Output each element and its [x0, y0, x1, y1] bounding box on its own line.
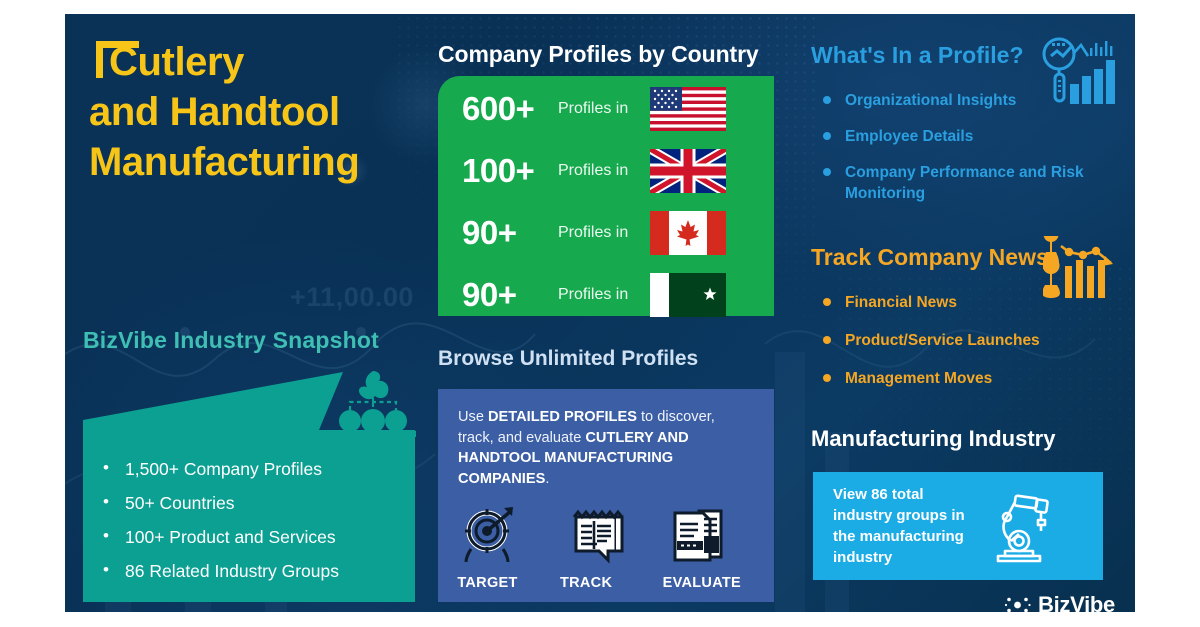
profile-label: Profiles in: [558, 100, 650, 118]
flag-canada-icon: [650, 211, 726, 255]
browse-suffix: .: [545, 471, 549, 487]
browse-icon-row: TARGET TRACK: [438, 489, 774, 591]
list-item: 1,500+ Company Profiles: [99, 452, 415, 486]
list-item: 100+ Product and Services: [99, 520, 415, 554]
news-feature-list: Financial News Product/Service Launches …: [813, 292, 1113, 406]
title-line-3: Manufacturing: [89, 137, 359, 187]
news-track-icon: [560, 499, 652, 565]
country-profiles-heading: Company Profiles by Country: [438, 41, 759, 68]
browse-panel: Use DETAILED PROFILES to discover, track…: [438, 389, 774, 602]
flag-pakistan-icon: [650, 273, 726, 317]
target-icon: [457, 499, 549, 565]
browse-item-evaluate[interactable]: EVALUATE: [663, 499, 755, 591]
browse-item-target[interactable]: TARGET: [457, 499, 549, 591]
list-item: Financial News: [813, 292, 1113, 313]
manufacturing-heading: Manufacturing Industry: [811, 426, 1055, 452]
globe-network-icon: [330, 369, 416, 437]
list-item: 50+ Countries: [99, 486, 415, 520]
profile-label: Profiles in: [558, 224, 650, 242]
snapshot-pointer-shape: [83, 372, 343, 438]
snapshot-list: 1,500+ Company Profiles 50+ Countries 10…: [83, 430, 415, 588]
page-title: Cutlery and Handtool Manufacturing: [89, 37, 359, 187]
profile-count: 600+: [462, 90, 558, 128]
browse-bold-1: DETAILED PROFILES: [488, 409, 637, 425]
profile-section-heading: What's In a Profile?: [811, 42, 1024, 69]
browse-prefix: Use: [458, 409, 488, 425]
profile-count: 90+: [462, 276, 558, 314]
profile-count: 90+: [462, 214, 558, 252]
corner-bracket-icon: [96, 41, 139, 78]
flag-uk-icon: [650, 149, 726, 193]
table-row: 90+ Profiles in: [438, 266, 774, 324]
browse-caption: TRACK: [560, 575, 652, 591]
browse-heading: Browse Unlimited Profiles: [438, 347, 698, 371]
bizvibe-dots-icon: [1005, 594, 1031, 612]
list-item: Employee Details: [813, 126, 1113, 147]
list-item: Product/Service Launches: [813, 330, 1113, 351]
snapshot-heading: BizVibe Industry Snapshot: [83, 327, 379, 354]
news-section-heading: Track Company News: [811, 244, 1049, 271]
manufacturing-box-text: View 86 total industry groups in the man…: [813, 484, 985, 568]
profile-label: Profiles in: [558, 286, 650, 304]
background-watermark-text: +11,00.00: [290, 282, 414, 313]
list-item: Management Moves: [813, 368, 1113, 389]
browse-caption: TARGET: [457, 575, 549, 591]
robot-arm-icon: [985, 489, 1063, 563]
profile-label: Profiles in: [558, 162, 650, 180]
list-item: Organizational Insights: [813, 90, 1113, 111]
manufacturing-box: View 86 total industry groups in the man…: [813, 472, 1103, 580]
flag-usa-icon: [650, 87, 726, 131]
browse-body-text: Use DETAILED PROFILES to discover, track…: [438, 389, 774, 489]
logo-text: BizVibe: [1038, 592, 1115, 612]
bizvibe-logo: BizVibe: [1005, 592, 1115, 612]
list-item: Company Performance and Risk Monitoring: [813, 162, 1113, 204]
table-row: 90+ Profiles in: [438, 204, 774, 262]
infographic-canvas: +11,00.00 Cutlery and Handtool Manufactu…: [65, 14, 1135, 612]
country-profiles-panel: 600+ Profiles in: [438, 76, 774, 316]
profile-count: 100+: [462, 152, 558, 190]
title-line-2: and Handtool: [89, 87, 359, 137]
table-row: 100+ Profiles in: [438, 142, 774, 200]
ghost-bar: [775, 352, 805, 612]
browse-caption: EVALUATE: [663, 575, 755, 591]
document-evaluate-icon: [663, 499, 755, 565]
snapshot-panel: 1,500+ Company Profiles 50+ Countries 10…: [83, 430, 415, 602]
profile-feature-list: Organizational Insights Employee Details…: [813, 90, 1113, 219]
browse-item-track[interactable]: TRACK: [560, 499, 652, 591]
money-bag-chart-icon: [1043, 236, 1117, 298]
table-row: 600+ Profiles in: [438, 80, 774, 138]
list-item: 86 Related Industry Groups: [99, 554, 415, 588]
